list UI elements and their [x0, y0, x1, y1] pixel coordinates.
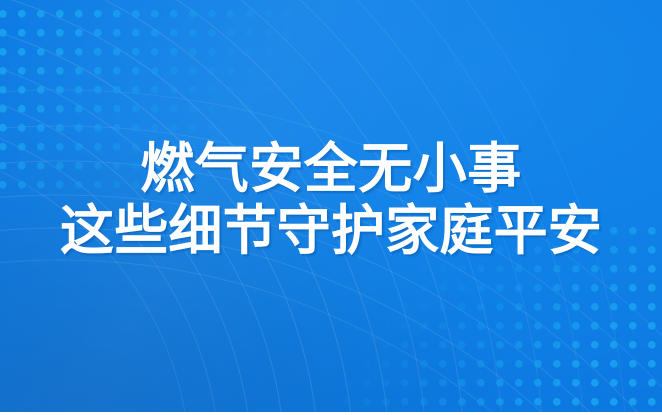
gas-safety-banner: 燃气安全无小事 这些细节守护家庭平安	[0, 0, 662, 415]
headline-line-1: 燃气安全无小事	[0, 138, 662, 200]
headline-line-2: 这些细节守护家庭平安	[0, 200, 662, 262]
headline: 燃气安全无小事 这些细节守护家庭平安	[0, 138, 662, 262]
